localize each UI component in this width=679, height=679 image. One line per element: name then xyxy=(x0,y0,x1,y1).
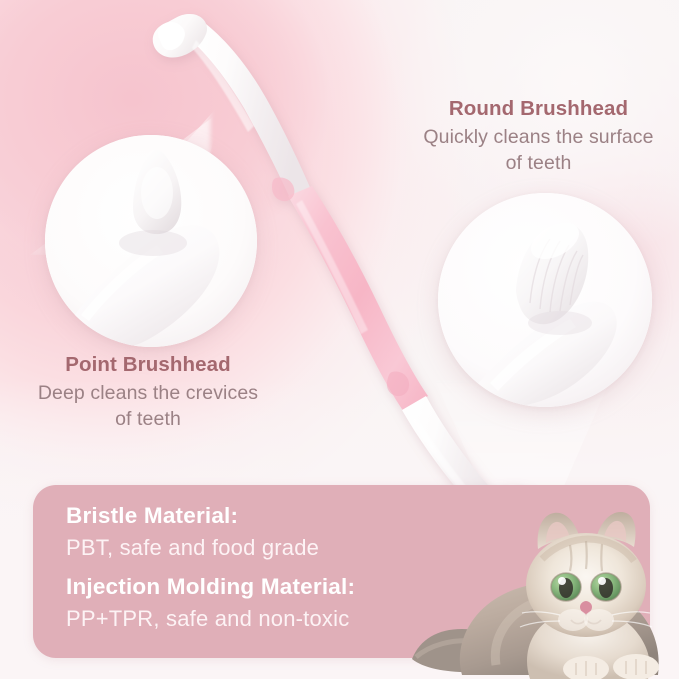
spec-label-injection-molding-material: Injection Molding Material: xyxy=(66,572,355,602)
spec-row-bristle-material: Bristle Material: PBT, safe and food gra… xyxy=(66,501,319,563)
spec-label-bristle-material: Bristle Material: xyxy=(66,501,319,531)
cat-photo xyxy=(410,489,679,679)
callout-point-brushhead: Point Brushhead Deep cleans the crevices… xyxy=(0,352,296,433)
magnifier-point-brushhead xyxy=(45,135,257,347)
spec-value-bristle-material: PBT, safe and food grade xyxy=(66,533,319,563)
round-brushhead-closeup xyxy=(438,193,652,407)
callout-round-brushhead: Round Brushhead Quickly cleans the surfa… xyxy=(398,96,679,177)
callout-point-brushhead-desc-line2: of teeth xyxy=(0,407,296,433)
callout-round-brushhead-desc-line1: Quickly cleans the surface xyxy=(398,125,679,151)
spec-row-injection-molding-material: Injection Molding Material: PP+TPR, safe… xyxy=(66,572,355,634)
point-brushhead-closeup xyxy=(45,135,257,347)
callout-point-brushhead-title: Point Brushhead xyxy=(0,352,296,378)
callout-point-brushhead-desc-line1: Deep cleans the crevices xyxy=(0,381,296,407)
spec-value-injection-molding-material: PP+TPR, safe and non-toxic xyxy=(66,604,355,634)
callout-round-brushhead-desc-line2: of teeth xyxy=(398,151,679,177)
british-shorthair-cat-illustration xyxy=(410,489,679,679)
magnifier-round-brushhead xyxy=(438,193,652,407)
callout-round-brushhead-title: Round Brushhead xyxy=(398,96,679,122)
infographic-canvas: Round Brushhead Quickly cleans the surfa… xyxy=(0,0,679,679)
